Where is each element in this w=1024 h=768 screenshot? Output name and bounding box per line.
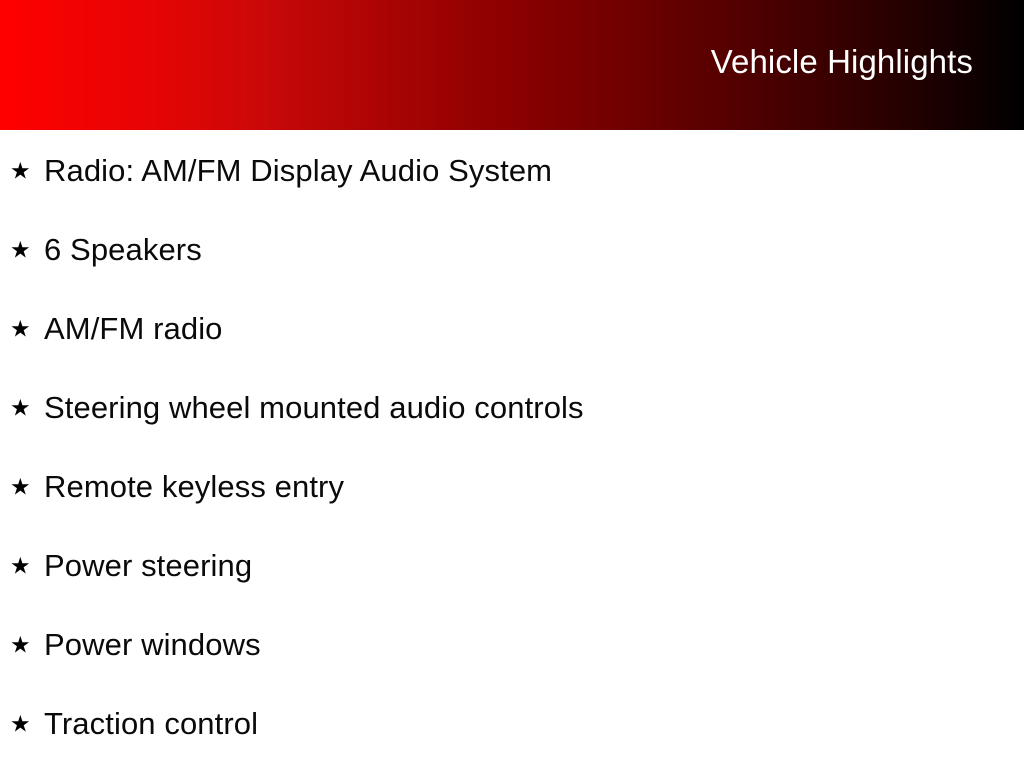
star-bullet-icon: ★ (10, 317, 34, 340)
list-item-label: Radio: AM/FM Display Audio System (44, 155, 552, 186)
star-bullet-icon: ★ (10, 159, 34, 182)
list-item-label: Steering wheel mounted audio controls (44, 392, 584, 423)
list-item: ★ Remote keyless entry (0, 447, 1024, 526)
star-bullet-icon: ★ (10, 238, 34, 261)
list-item: ★ Radio: AM/FM Display Audio System (0, 131, 1024, 210)
star-bullet-icon: ★ (10, 633, 34, 656)
list-item-label: Remote keyless entry (44, 471, 344, 502)
header-banner: Vehicle Highlights (0, 0, 1024, 130)
list-item: ★ Power windows (0, 605, 1024, 684)
list-item: ★ Steering wheel mounted audio controls (0, 368, 1024, 447)
list-item: ★ AM/FM radio (0, 289, 1024, 368)
list-item-label: Power steering (44, 550, 252, 581)
list-item: ★ 6 Speakers (0, 210, 1024, 289)
list-item-label: AM/FM radio (44, 313, 223, 344)
page-title: Vehicle Highlights (711, 45, 973, 78)
star-bullet-icon: ★ (10, 396, 34, 419)
list-item-label: Traction control (44, 708, 258, 739)
list-item-label: 6 Speakers (44, 234, 202, 265)
star-bullet-icon: ★ (10, 554, 34, 577)
vehicle-highlights-list: ★ Radio: AM/FM Display Audio System ★ 6 … (0, 131, 1024, 763)
star-bullet-icon: ★ (10, 712, 34, 735)
list-item: ★ Traction control (0, 684, 1024, 763)
slide-canvas: Vehicle Highlights ★ Radio: AM/FM Displa… (0, 0, 1024, 768)
star-bullet-icon: ★ (10, 475, 34, 498)
list-item: ★ Power steering (0, 526, 1024, 605)
list-item-label: Power windows (44, 629, 261, 660)
